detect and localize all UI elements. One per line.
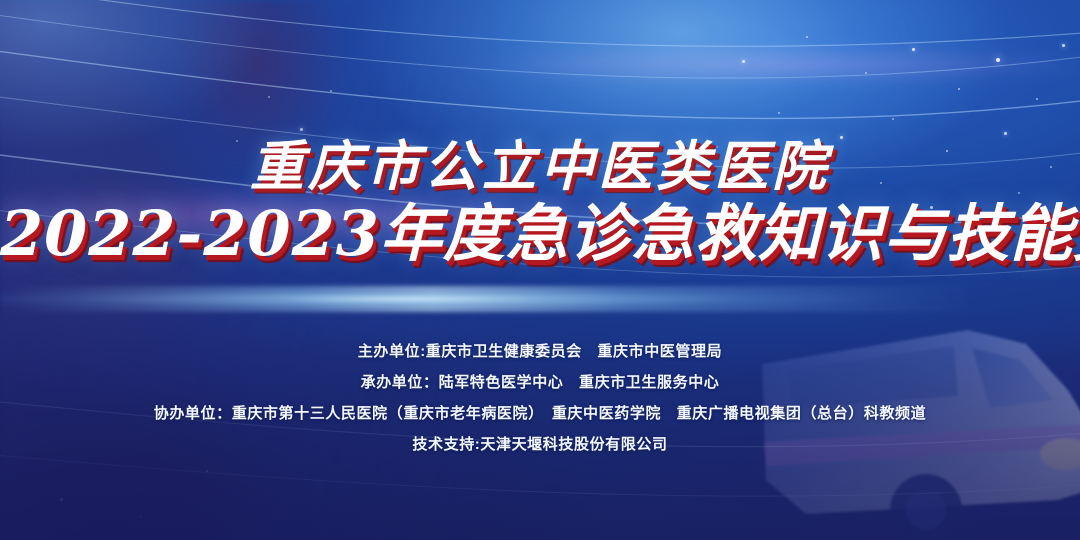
credit-host: 承办单位：陆军特色医学中心 重庆市卫生服务中心 <box>0 367 1080 398</box>
credit-co-organizer: 协办单位：重庆市第十三人民医院（重庆市老年病医院） 重庆中医药学院 重庆广播电视… <box>0 398 1080 429</box>
poster-content: 重庆市公立中医类医院 2022-2023年度急诊急救知识与技能竞赛 主办单位:重… <box>0 0 1080 540</box>
credit-technical-support: 技术支持:天津天堰科技股份有限公司 <box>0 429 1080 460</box>
poster-title: 重庆市公立中医类医院 2022-2023年度急诊急救知识与技能竞赛 <box>0 138 1080 266</box>
credits-block: 主办单位:重庆市卫生健康委员会 重庆市中医管理局 承办单位：陆军特色医学中心 重… <box>0 336 1080 460</box>
title-line-1: 重庆市公立中医类医院 <box>0 138 1080 195</box>
poster-banner: 重庆市公立中医类医院 2022-2023年度急诊急救知识与技能竞赛 主办单位:重… <box>0 0 1080 540</box>
credit-organizer: 主办单位:重庆市卫生健康委员会 重庆市中医管理局 <box>0 336 1080 367</box>
title-line-2: 2022-2023年度急诊急救知识与技能竞赛 <box>0 201 1080 266</box>
